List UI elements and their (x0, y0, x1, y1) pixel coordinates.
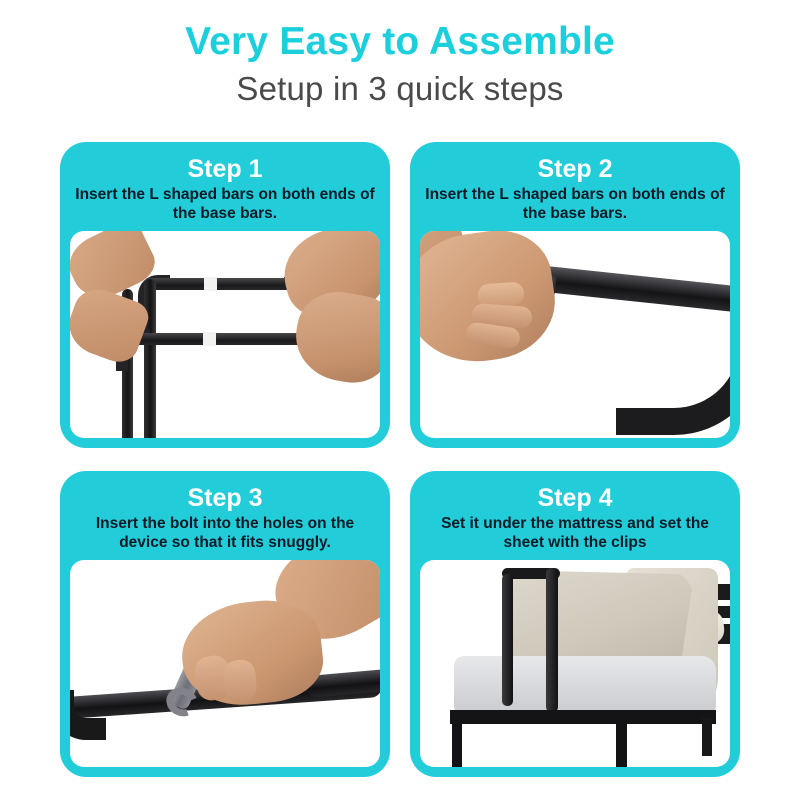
step-1-header: Step 1 Insert the L shaped bars on both … (70, 152, 380, 231)
step-2-description: Insert the L shaped bars on both ends of… (422, 186, 728, 224)
step-4-photo (420, 560, 730, 767)
blanket-lifter-right-post (546, 568, 558, 712)
bed-frame-rail (450, 710, 716, 724)
step-1-photo (70, 231, 380, 438)
bed-leg-middle (616, 720, 627, 767)
bed-leg-right (702, 718, 712, 756)
connector-sleeve-bottom (203, 332, 216, 346)
step-card-1: Step 1 Insert the L shaped bars on both … (60, 142, 390, 448)
step-1-description: Insert the L shaped bars on both ends of… (72, 186, 378, 224)
page-title: Very Easy to Assemble (0, 22, 800, 63)
step-card-3: Step 3 Insert the bolt into the holes on… (60, 471, 390, 777)
assembly-infographic: { "header": { "title": "Very Easy to Ass… (0, 0, 800, 800)
mattress (454, 656, 716, 714)
bed-leg-left (452, 720, 462, 767)
step-2-header: Step 2 Insert the L shaped bars on both … (420, 152, 730, 231)
step-3-description: Insert the bolt into the holes on the de… (72, 515, 378, 553)
middle-finger (223, 659, 258, 703)
bar-curved-section (616, 285, 730, 435)
step-card-4: Step 4 Set it under the mattress and set… (410, 471, 740, 777)
page-subtitle: Setup in 3 quick steps (0, 71, 800, 107)
bar-left-bend (70, 690, 106, 740)
step-2-title: Step 2 (422, 156, 728, 182)
page-header: Very Easy to Assemble Setup in 3 quick s… (0, 0, 800, 107)
step-4-description: Set it under the mattress and set the sh… (422, 515, 728, 553)
step-1-title: Step 1 (72, 156, 378, 182)
step-3-title: Step 3 (72, 485, 378, 511)
steps-grid: Step 1 Insert the L shaped bars on both … (60, 142, 740, 777)
step-2-photo (420, 231, 730, 438)
step-3-header: Step 3 Insert the bolt into the holes on… (70, 481, 380, 560)
step-card-2: Step 2 Insert the L shaped bars on both … (410, 142, 740, 448)
step-4-title: Step 4 (422, 485, 728, 511)
blanket-lifter-left-post (502, 574, 513, 706)
connector-sleeve-top (204, 277, 217, 291)
step-4-header: Step 4 Set it under the mattress and set… (420, 481, 730, 560)
step-3-photo (70, 560, 380, 767)
